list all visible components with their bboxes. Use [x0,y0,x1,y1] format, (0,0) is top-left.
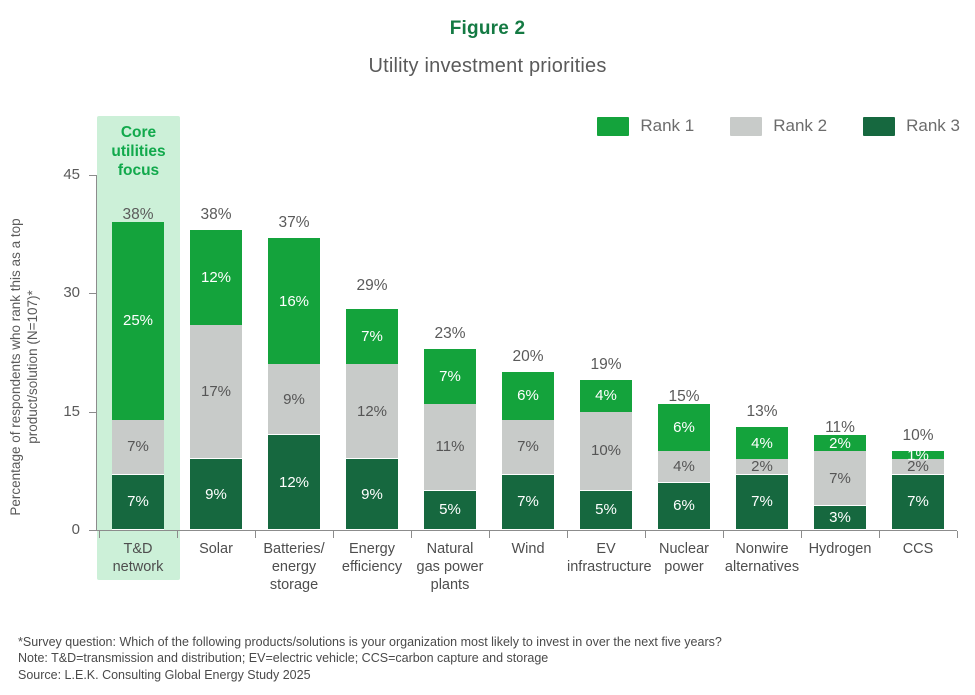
bar-segment-rank-3-label: 7% [751,493,773,510]
bar-segment-rank-3[interactable]: 7% [502,475,554,530]
x-tick [801,531,802,538]
bar-segment-rank-2-label: 17% [201,383,231,400]
bar-segment-rank-3[interactable]: 9% [346,459,398,530]
bar-segment-rank-3-label: 9% [205,486,227,503]
x-axis-label-line: plants [411,576,489,594]
bar-total-label: 38% [112,206,164,224]
bar-stack: 6%4%6% [658,404,710,530]
bar-total-label: 19% [580,356,632,374]
bar-segment-rank-2-label: 12% [357,403,387,420]
footnote-source: Source: L.E.K. Consulting Global Energy … [18,667,722,684]
x-axis-label-line: Wind [489,540,567,558]
x-tick [645,531,646,538]
bar-stack: 5%11%7% [424,349,476,530]
bar-group[interactable]: 7%7%25%38% [112,175,164,530]
bar-segment-rank-2-label: 11% [436,438,465,455]
y-tick-label-30: 30 [20,284,80,301]
y-tick-label-45: 45 [20,166,80,183]
bar-total-label: 23% [424,325,476,343]
bar-segment-rank-1-label: 16% [279,293,309,310]
bar-segment-rank-2[interactable]: 9% [268,364,320,435]
x-axis-label: CCS [879,540,957,558]
legend-swatch-icon-rank-3 [863,117,895,136]
bar-segment-rank-1-label: 1% [907,447,929,464]
bar-segment-rank-3-label: 5% [439,501,461,518]
x-tick [879,531,880,538]
legend-item-rank-1[interactable]: Rank 1 [597,116,694,136]
bar-segment-rank-1[interactable]: 12% [190,230,242,325]
bar-group[interactable]: 6%4%6%15% [658,175,710,530]
bar-segment-rank-2-label: 10% [591,442,621,459]
bar-total-label: 29% [346,277,398,295]
x-axis-label-line: Batteries/ [255,540,333,558]
x-axis-label: Naturalgas powerplants [411,540,489,594]
bar-total-label: 38% [190,206,242,224]
x-axis-label-line: Natural [411,540,489,558]
x-tick [333,531,334,538]
bar-segment-rank-3[interactable]: 5% [580,491,632,530]
bar-segment-rank-1[interactable]: 7% [424,349,476,404]
x-tick [255,531,256,538]
bar-segment-rank-1-label: 25% [123,312,153,329]
bar-segment-rank-3[interactable]: 3% [814,506,866,530]
bar-segment-rank-2[interactable]: 4% [658,451,710,483]
bar-group[interactable]: 3%7%2%11% [814,175,866,530]
x-axis-label: Wind [489,540,567,558]
bar-group[interactable]: 7%7%6%20% [502,175,554,530]
bar-segment-rank-2-label: 7% [517,438,539,455]
x-tick [489,531,490,538]
bar-segment-rank-1[interactable]: 6% [658,404,710,451]
bar-segment-rank-3[interactable]: 7% [892,475,944,530]
bar-group[interactable]: 5%10%4%19% [580,175,632,530]
bar-total-label: 37% [268,214,320,232]
bar-segment-rank-1[interactable]: 7% [346,309,398,364]
bar-segment-rank-3[interactable]: 6% [658,483,710,530]
x-axis-label-line: CCS [879,540,957,558]
footnote-note: Note: T&D=transmission and distribution;… [18,650,722,667]
x-axis-label: Batteries/energystorage [255,540,333,594]
bar-group[interactable]: 7%2%4%13% [736,175,788,530]
bar-stack: 3%7%2% [814,435,866,530]
legend-item-rank-3[interactable]: Rank 3 [863,116,960,136]
bar-segment-rank-2[interactable]: 7% [112,420,164,475]
bar-stack: 7%2%1% [892,451,944,530]
bar-segment-rank-3[interactable]: 7% [736,475,788,530]
bar-segment-rank-3-label: 12% [279,474,309,491]
bar-group[interactable]: 9%17%12%38% [190,175,242,530]
x-tick [957,531,958,538]
x-tick [723,531,724,538]
legend-label-rank-3: Rank 3 [906,116,960,136]
bar-total-label: 20% [502,348,554,366]
bar-segment-rank-3-label: 7% [907,493,929,510]
y-tick-30 [89,293,96,294]
bar-segment-rank-2[interactable]: 10% [580,412,632,491]
legend-label-rank-2: Rank 2 [773,116,827,136]
x-axis-label-line: efficiency [333,558,411,576]
y-axis-title: Percentage of respondents who rank this … [7,207,41,527]
x-axis-label: EVinfrastructure [567,540,645,576]
bar-segment-rank-1-label: 4% [751,435,773,452]
footnote-survey-question: *Survey question: Which of the following… [18,634,722,651]
x-axis-label: Energyefficiency [333,540,411,576]
bar-segment-rank-2[interactable]: 12% [346,364,398,459]
y-tick-label-15: 15 [20,403,80,420]
legend-label-rank-1: Rank 1 [640,116,694,136]
x-axis-label-line: Nonwire [723,540,801,558]
bar-segment-rank-3-label: 9% [361,486,383,503]
bar-segment-rank-2[interactable]: 7% [814,451,866,506]
bar-segment-rank-1-label: 2% [829,435,851,452]
chart-subtitle: Utility investment priorities [0,55,975,78]
x-axis-label: Solar [177,540,255,558]
bar-stack: 9%17%12% [190,230,242,530]
bar-segment-rank-2[interactable]: 2% [736,459,788,475]
y-tick-label-0: 0 [20,521,80,538]
legend-item-rank-2[interactable]: Rank 2 [730,116,827,136]
plot-area: 7%7%25%38%9%17%12%38%12%9%16%37%9%12%7%2… [97,175,957,530]
x-axis-label-line: Nuclear [645,540,723,558]
bar-segment-rank-1[interactable]: 2% [814,435,866,451]
bar-segment-rank-1-label: 12% [201,269,231,286]
bar-segment-rank-1[interactable]: 4% [736,427,788,459]
x-axis-line [96,530,957,531]
bar-segment-rank-1-label: 7% [361,328,383,345]
x-axis-label-line: network [99,558,177,576]
y-tick-45 [89,175,96,176]
bar-segment-rank-1[interactable]: 1% [892,451,944,459]
x-axis-label-line: storage [255,576,333,594]
bar-group[interactable]: 7%2%1%10% [892,175,944,530]
bar-stack: 7%7%6% [502,372,554,530]
bar-segment-rank-1[interactable]: 25% [112,222,164,419]
bar-segment-rank-2[interactable]: 7% [502,420,554,475]
bar-segment-rank-1-label: 7% [439,368,461,385]
bar-segment-rank-1[interactable]: 6% [502,372,554,419]
x-axis-label: T&Dnetwork [99,540,177,576]
bar-total-label: 10% [892,427,944,445]
bar-segment-rank-3-label: 3% [829,509,851,526]
x-axis-label-line: Hydrogen [801,540,879,558]
bar-segment-rank-3[interactable]: 5% [424,491,476,530]
x-axis-label-line: gas power [411,558,489,576]
chart-legend: Rank 1Rank 2Rank 3 [597,116,960,136]
bar-segment-rank-2-label: 4% [673,458,695,475]
x-axis-label-line: infrastructure [567,558,645,576]
bar-total-label: 13% [736,403,788,421]
bar-stack: 5%10%4% [580,380,632,530]
bar-group[interactable]: 5%11%7%23% [424,175,476,530]
y-tick-15 [89,412,96,413]
x-tick [567,531,568,538]
bar-group[interactable]: 9%12%7%29% [346,175,398,530]
bar-stack: 7%2%4% [736,427,788,530]
bar-segment-rank-1[interactable]: 16% [268,238,320,364]
bar-segment-rank-3-label: 7% [127,493,149,510]
bar-segment-rank-3-label: 6% [673,497,695,514]
figure-label: Figure 2 [0,18,975,40]
x-axis-label-line: EV [567,540,645,558]
bar-segment-rank-2-label: 7% [127,438,149,455]
bar-segment-rank-1[interactable]: 4% [580,380,632,412]
x-tick [99,531,100,538]
legend-swatch-icon-rank-1 [597,117,629,136]
x-axis-label: Nonwirealternatives [723,540,801,576]
footnotes: *Survey question: Which of the following… [18,634,722,684]
bar-segment-rank-3[interactable]: 7% [112,475,164,530]
core-utilities-focus-label: Core utilities focus [97,123,180,180]
bar-segment-rank-3[interactable]: 12% [268,435,320,530]
core-focus-line-2: utilities [97,142,180,161]
x-tick [411,531,412,538]
x-axis-label: Nuclearpower [645,540,723,576]
y-tick-0 [89,530,96,531]
bar-segment-rank-1-label: 4% [595,387,617,404]
legend-swatch-icon-rank-2 [730,117,762,136]
x-axis-label-line: T&D [99,540,177,558]
x-tick [177,531,178,538]
bar-segment-rank-3[interactable]: 9% [190,459,242,530]
bar-stack: 7%7%25% [112,222,164,530]
x-axis-label-line: alternatives [723,558,801,576]
bar-total-label: 15% [658,388,710,406]
bar-segment-rank-3-label: 5% [595,501,617,518]
bar-group[interactable]: 12%9%16%37% [268,175,320,530]
core-focus-line-1: Core [97,123,180,142]
bar-stack: 12%9%16% [268,238,320,530]
bar-segment-rank-2[interactable]: 11% [424,404,476,491]
x-axis-label-line: Solar [177,540,255,558]
bar-segment-rank-2-label: 7% [829,470,851,487]
bar-stack: 9%12%7% [346,309,398,530]
bar-segment-rank-3-label: 7% [517,493,539,510]
bar-segment-rank-1-label: 6% [673,419,695,436]
x-axis-label-line: Energy [333,540,411,558]
bar-segment-rank-2[interactable]: 17% [190,325,242,459]
bar-segment-rank-2-label: 9% [283,391,305,408]
bar-segment-rank-1-label: 6% [517,387,539,404]
x-axis-label-line: energy [255,558,333,576]
x-axis-label-line: power [645,558,723,576]
bar-segment-rank-2-label: 2% [751,458,773,475]
x-axis-label: Hydrogen [801,540,879,558]
